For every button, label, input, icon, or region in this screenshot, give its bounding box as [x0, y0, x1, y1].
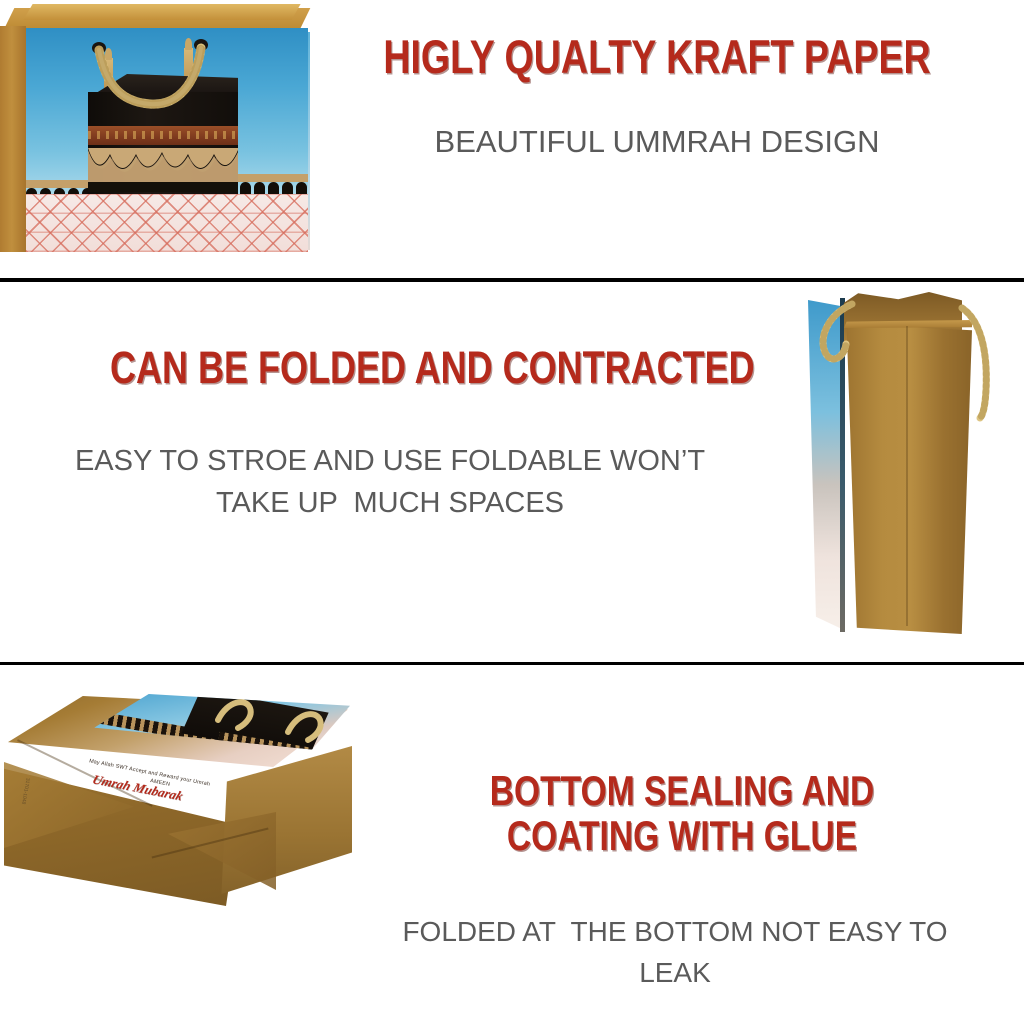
gift-bag-front-illustration [0, 2, 336, 258]
panel-divider-2 [0, 662, 1024, 665]
panel-foldable-subtext: EASY TO STROE AND USE FOLDABLE WON’T TAK… [40, 440, 740, 524]
panel-quality-headline: HIGLY QUALTY KRAFT PAPER [381, 32, 933, 83]
panel-foldable-headline: CAN BE FOLDED AND CONTRACTED [110, 344, 670, 393]
panel-bottom-headline: BOTTOM SEALING AND COATING WITH GLUE [418, 768, 946, 859]
product-photo-bottom: May Allah SWT Accept and Reward your Umr… [0, 694, 366, 912]
panel-bottom-subtext: FOLDED AT THE BOTTOM NOT EASY TO LEAK [330, 912, 1020, 993]
product-photo-side [790, 286, 1024, 660]
rope-handle-bottom [0, 694, 366, 912]
bag-top-flap-inner [23, 4, 300, 20]
panel-quality-subtext: BEAUTIFUL UMMRAH DESIGN [312, 120, 1002, 165]
gift-bag-side-illustration [790, 286, 1024, 660]
panel-divider-1 [0, 278, 1024, 282]
bag-left-gusset [0, 26, 26, 252]
product-photo-front [0, 0, 336, 258]
rope-handle-front [26, 28, 308, 252]
rope-handle-side [790, 286, 1024, 660]
bag-printed-face [26, 28, 308, 252]
panel-quality: HIGLY QUALTY KRAFT PAPER BEAUTIFUL UMMRA… [0, 0, 1024, 278]
gift-bag-bottom-illustration: May Allah SWT Accept and Reward your Umr… [0, 694, 366, 912]
infographic-page: HIGLY QUALTY KRAFT PAPER BEAUTIFUL UMMRA… [0, 0, 1024, 1024]
